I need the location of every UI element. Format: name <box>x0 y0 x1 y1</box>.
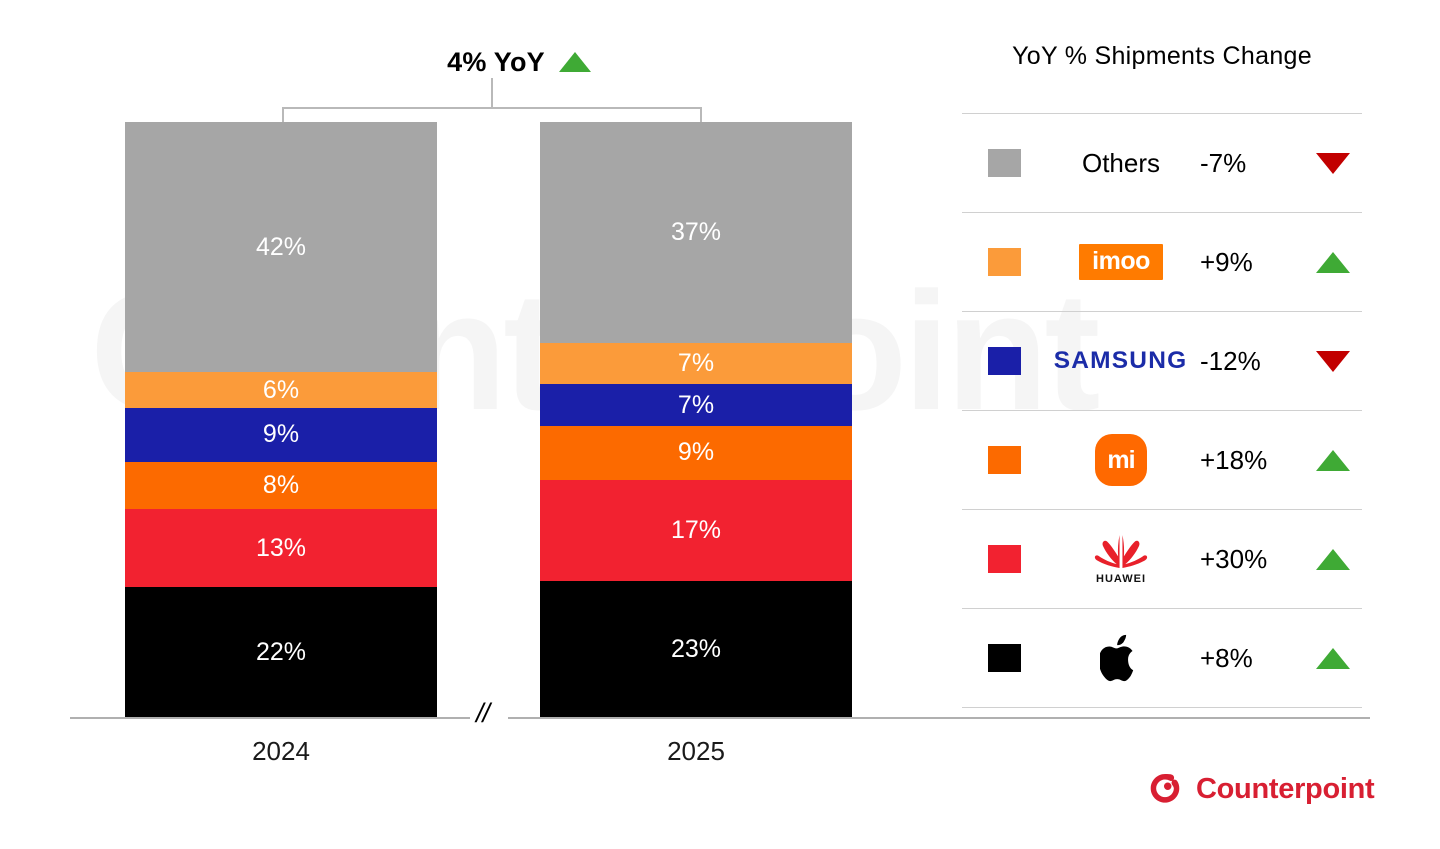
legend-row: HUAWEI+30% <box>962 510 1362 609</box>
axis-label-2024: 2024 <box>125 736 437 767</box>
legend-swatch-cell <box>962 446 1046 474</box>
bar-segment-label: 9% <box>678 440 714 465</box>
legend-color-swatch <box>988 545 1021 573</box>
axis-break-marker: // <box>476 698 489 729</box>
bar-segment-label: 17% <box>671 518 721 543</box>
legend-swatch-cell <box>962 347 1046 375</box>
bar-segment-samsung: 9% <box>125 408 437 462</box>
bar-segment-label: 22% <box>256 640 306 665</box>
legend-direction-cell <box>1304 549 1362 570</box>
legend-row: Others-7% <box>962 114 1362 213</box>
legend-color-swatch <box>988 347 1021 375</box>
stacked-bar-2025: 37%7%7%9%17%23% <box>540 122 852 718</box>
legend-rows: Others-7%imoo+9%SAMSUNG-12%mi+18%HUAWEI+… <box>962 113 1362 708</box>
bar-segment-xiaomi: 8% <box>125 462 437 510</box>
legend-change-value: +8% <box>1196 643 1304 674</box>
counterpoint-logo: Counterpoint <box>1148 772 1374 806</box>
bar-segment-apple: 23% <box>540 581 852 718</box>
stacked-bar-2024: 42%6%9%8%13%22% <box>125 122 437 718</box>
legend-title: YoY % Shipments Change <box>962 42 1362 81</box>
bar-segment-label: 23% <box>671 637 721 662</box>
legend-change-value: -12% <box>1196 346 1304 377</box>
triangle-up-icon <box>559 52 591 72</box>
bar-segment-huawei: 13% <box>125 509 437 586</box>
legend-direction-cell <box>1304 450 1362 471</box>
triangle-up-icon <box>1316 450 1350 471</box>
legend-swatch-cell <box>962 248 1046 276</box>
bar-segment-label: 7% <box>678 393 714 418</box>
counterpoint-mark-icon <box>1148 772 1182 806</box>
bar-segment-others: 37% <box>540 122 852 343</box>
bracket-horizontal <box>282 107 702 109</box>
samsung-logo-icon: SAMSUNG <box>1054 347 1188 375</box>
legend-row: mi+18% <box>962 411 1362 510</box>
legend-brand-cell: mi <box>1046 434 1196 486</box>
total-yoy-label: 4% YoY <box>447 47 545 78</box>
legend-swatch-cell <box>962 149 1046 177</box>
bar-segment-samsung: 7% <box>540 384 852 426</box>
legend-brand-label: Others <box>1082 148 1160 179</box>
legend-change-value: +9% <box>1196 247 1304 278</box>
bar-segment-apple: 22% <box>125 587 437 718</box>
triangle-up-icon <box>1316 648 1350 669</box>
legend-brand-cell: HUAWEI <box>1046 533 1196 585</box>
bar-segment-imoo: 6% <box>125 372 437 408</box>
bar-segment-label: 6% <box>263 378 299 403</box>
legend-change-value: +18% <box>1196 445 1304 476</box>
legend-swatch-cell <box>962 644 1046 672</box>
legend-row: imoo+9% <box>962 213 1362 312</box>
imoo-logo-icon: imoo <box>1079 244 1163 280</box>
bar-segment-label: 42% <box>256 235 306 260</box>
bar-segment-label: 37% <box>671 220 721 245</box>
triangle-up-icon <box>1316 549 1350 570</box>
legend-swatch-cell <box>962 545 1046 573</box>
huawei-logo-icon: HUAWEI <box>1092 533 1150 585</box>
legend-row: SAMSUNG-12% <box>962 312 1362 411</box>
triangle-down-icon <box>1316 351 1350 372</box>
bracket-stem <box>491 78 493 107</box>
legend-change-value: +30% <box>1196 544 1304 575</box>
legend-row: +8% <box>962 609 1362 708</box>
axis-label-2025: 2025 <box>540 736 852 767</box>
legend-color-swatch <box>988 149 1021 177</box>
xiaomi-logo-icon: mi <box>1095 434 1147 486</box>
legend-direction-cell <box>1304 153 1362 174</box>
legend-color-swatch <box>988 644 1021 672</box>
apple-logo-icon <box>1100 633 1142 683</box>
legend-brand-cell <box>1046 633 1196 683</box>
legend-color-swatch <box>988 446 1021 474</box>
total-yoy-header: 4% YoY <box>404 42 634 82</box>
legend-panel: YoY % Shipments Change Others-7%imoo+9%S… <box>962 42 1362 708</box>
bar-segment-label: 8% <box>263 473 299 498</box>
axis-line-right <box>508 717 1370 719</box>
bracket-left-arm <box>282 107 284 122</box>
legend-change-value: -7% <box>1196 148 1304 179</box>
legend-direction-cell <box>1304 252 1362 273</box>
huawei-wordmark: HUAWEI <box>1096 573 1146 585</box>
bar-segment-label: 13% <box>256 536 306 561</box>
legend-brand-cell: Others <box>1046 148 1196 179</box>
bar-segment-xiaomi: 9% <box>540 426 852 480</box>
bracket-connector <box>282 92 702 122</box>
bar-segment-label: 7% <box>678 351 714 376</box>
chart-canvas: Counterpoint 4% YoY 42%6%9%8%13%22% 37%7… <box>0 0 1440 849</box>
triangle-down-icon <box>1316 153 1350 174</box>
legend-direction-cell <box>1304 648 1362 669</box>
bar-segment-label: 9% <box>263 422 299 447</box>
legend-direction-cell <box>1304 351 1362 372</box>
triangle-up-icon <box>1316 252 1350 273</box>
bar-segment-huawei: 17% <box>540 480 852 581</box>
bar-segment-others: 42% <box>125 122 437 372</box>
legend-color-swatch <box>988 248 1021 276</box>
counterpoint-wordmark: Counterpoint <box>1196 773 1374 806</box>
legend-brand-cell: SAMSUNG <box>1046 347 1196 375</box>
bar-segment-imoo: 7% <box>540 343 852 385</box>
axis-line-left <box>70 717 470 719</box>
legend-brand-cell: imoo <box>1046 244 1196 280</box>
bracket-right-arm <box>700 107 702 122</box>
